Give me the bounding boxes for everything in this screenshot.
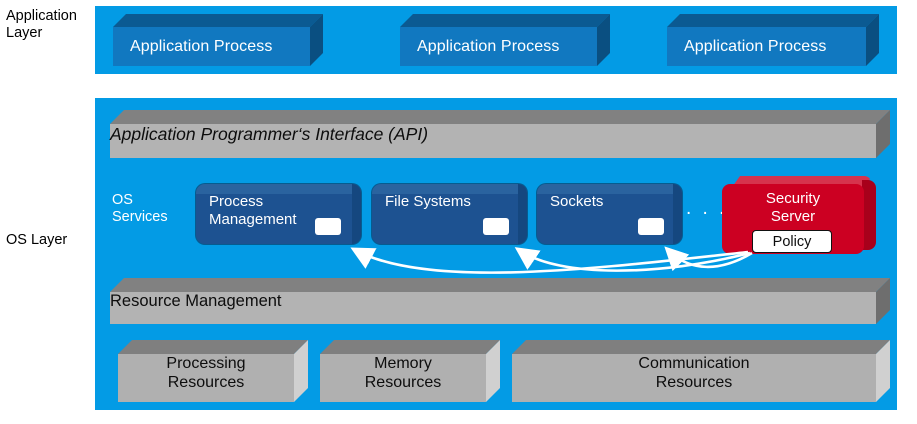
security-hook-sockets[interactable]: [638, 218, 664, 235]
service-box-right-face: [518, 184, 527, 244]
service-box-sockets[interactable]: Sockets: [537, 184, 682, 244]
resource-management-bar[interactable]: Resource Management: [110, 278, 890, 324]
service-box-file-systems[interactable]: File Systems: [372, 184, 527, 244]
box-top-face: [320, 340, 500, 354]
bar-top-face: [110, 278, 890, 292]
application-process-box-3[interactable]: Application Process: [667, 14, 879, 66]
application-process-label-2: Application Process: [400, 27, 597, 66]
security-hook-process-management[interactable]: [315, 218, 341, 235]
application-process-box-2[interactable]: Application Process: [400, 14, 610, 66]
application-process-label-3: Application Process: [667, 27, 866, 66]
box-top-face: [118, 340, 308, 354]
resource-box-processing[interactable]: Processing Resources: [118, 340, 308, 402]
os-services-label: OS Services: [112, 192, 168, 226]
box-top-face: [667, 14, 879, 27]
service-label-sockets: Sockets: [550, 193, 603, 211]
resource-label-communication: Communication Resources: [512, 354, 876, 402]
security-box-right-face: [862, 180, 876, 250]
security-hook-file-systems[interactable]: [483, 218, 509, 235]
security-server-label: Security Server: [722, 190, 864, 226]
policy-box[interactable]: Policy: [752, 230, 832, 253]
diagram-canvas: Application Layer OS Layer Application P…: [0, 0, 917, 424]
resource-box-memory[interactable]: Memory Resources: [320, 340, 500, 402]
service-box-right-face: [673, 184, 682, 244]
os-layer-caption: OS Layer: [6, 232, 90, 249]
service-label-process-management: Process Management: [209, 193, 297, 229]
resource-label-memory: Memory Resources: [320, 354, 486, 402]
resource-management-label: Resource Management: [110, 292, 876, 324]
application-layer-caption: Application Layer: [6, 8, 90, 42]
box-top-face: [113, 14, 323, 27]
service-box-right-face: [352, 184, 361, 244]
api-bar-label: Application Programmer‘s Interface (API): [110, 124, 876, 158]
application-process-label-1: Application Process: [113, 27, 310, 66]
application-process-box-1[interactable]: Application Process: [113, 14, 323, 66]
resource-label-processing: Processing Resources: [118, 354, 294, 402]
box-top-face: [400, 14, 610, 27]
service-box-process-management[interactable]: Process Management: [196, 184, 361, 244]
service-label-file-systems: File Systems: [385, 193, 471, 211]
bar-top-face: [110, 110, 890, 124]
api-bar[interactable]: Application Programmer‘s Interface (API): [110, 110, 890, 158]
resource-box-communication[interactable]: Communication Resources: [512, 340, 890, 402]
security-server-box[interactable]: Security Server Policy: [722, 176, 876, 254]
box-top-face: [512, 340, 890, 354]
